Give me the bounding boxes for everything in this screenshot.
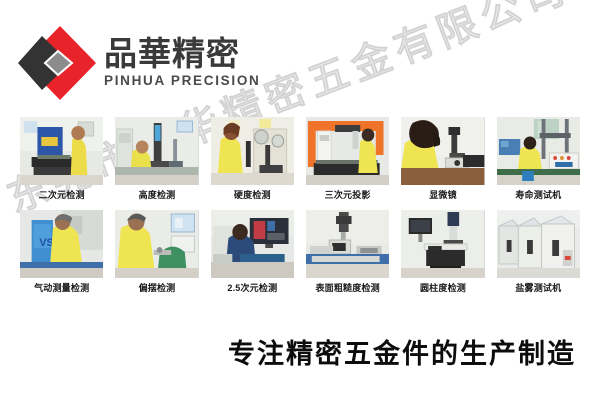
- gallery-item-caption: 气动测量检测: [34, 283, 89, 294]
- gallery-item-caption: 圆柱度检测: [420, 283, 466, 294]
- gallery-item-caption: 表面粗糙度检测: [315, 283, 379, 294]
- equipment-gallery-grid: 二次元检测 高度检测: [20, 117, 580, 294]
- gallery-item[interactable]: 表面粗糙度检测: [306, 210, 389, 294]
- gallery-item[interactable]: 圆柱度检测: [401, 210, 484, 294]
- gallery-item[interactable]: VS 气动测量检测: [20, 210, 103, 294]
- gallery-item-caption: 偏摆检测: [139, 283, 176, 294]
- gallery-item-caption: 盐雾测试机: [515, 283, 561, 294]
- gallery-item-caption: 显微镜: [429, 190, 457, 201]
- photo-hardness-tester: [211, 117, 294, 185]
- photo-2-5d-measuring: [211, 210, 294, 278]
- gallery-item-caption: 2.5次元检测: [227, 283, 277, 294]
- gallery-item[interactable]: 寿命测试机: [497, 117, 580, 201]
- brand-header: 品華精密 PINHUA PRECISION: [16, 24, 260, 102]
- photo-microscope: [401, 117, 484, 185]
- brand-name-en: PINHUA PRECISION: [104, 74, 260, 89]
- brand-name-cn: 品華精密: [104, 37, 260, 72]
- gallery-item[interactable]: 显微镜: [401, 117, 484, 201]
- photo-salt-spray-tester: [497, 210, 580, 278]
- gallery-item-caption: 二次元检测: [39, 190, 85, 201]
- gallery-item-caption: 硬度检测: [234, 190, 271, 201]
- photo-runout-tester: [115, 210, 198, 278]
- photo-surface-roughness-tester: [306, 210, 389, 278]
- gallery-item[interactable]: 盐雾测试机: [497, 210, 580, 294]
- gallery-item[interactable]: 2.5次元检测: [211, 210, 294, 294]
- gallery-item[interactable]: 二次元检测: [20, 117, 103, 201]
- photo-cmm-projector: [306, 117, 389, 185]
- photo-height-gauge: [115, 117, 198, 185]
- gallery-item-caption: 三次元投影: [325, 190, 371, 201]
- photo-life-test-machine: [497, 117, 580, 185]
- tagline: 专注精密五金件的生产制造: [228, 332, 576, 371]
- gallery-item-caption: 高度检测: [139, 190, 176, 201]
- gallery-item-caption: 寿命测试机: [515, 190, 561, 201]
- gallery-item[interactable]: 高度检测: [115, 117, 198, 201]
- gallery-item[interactable]: 三次元投影: [306, 117, 389, 201]
- pinhua-diamond-logo-icon: [16, 24, 98, 102]
- brand-wordmark: 品華精密 PINHUA PRECISION: [104, 37, 260, 89]
- gallery-item[interactable]: 偏摆检测: [115, 210, 198, 294]
- gallery-item[interactable]: 硬度检测: [211, 117, 294, 201]
- photo-air-gauge-measuring: VS: [20, 210, 103, 278]
- photo-2d-measuring-machine: [20, 117, 103, 185]
- photo-cylindricity-tester: [401, 210, 484, 278]
